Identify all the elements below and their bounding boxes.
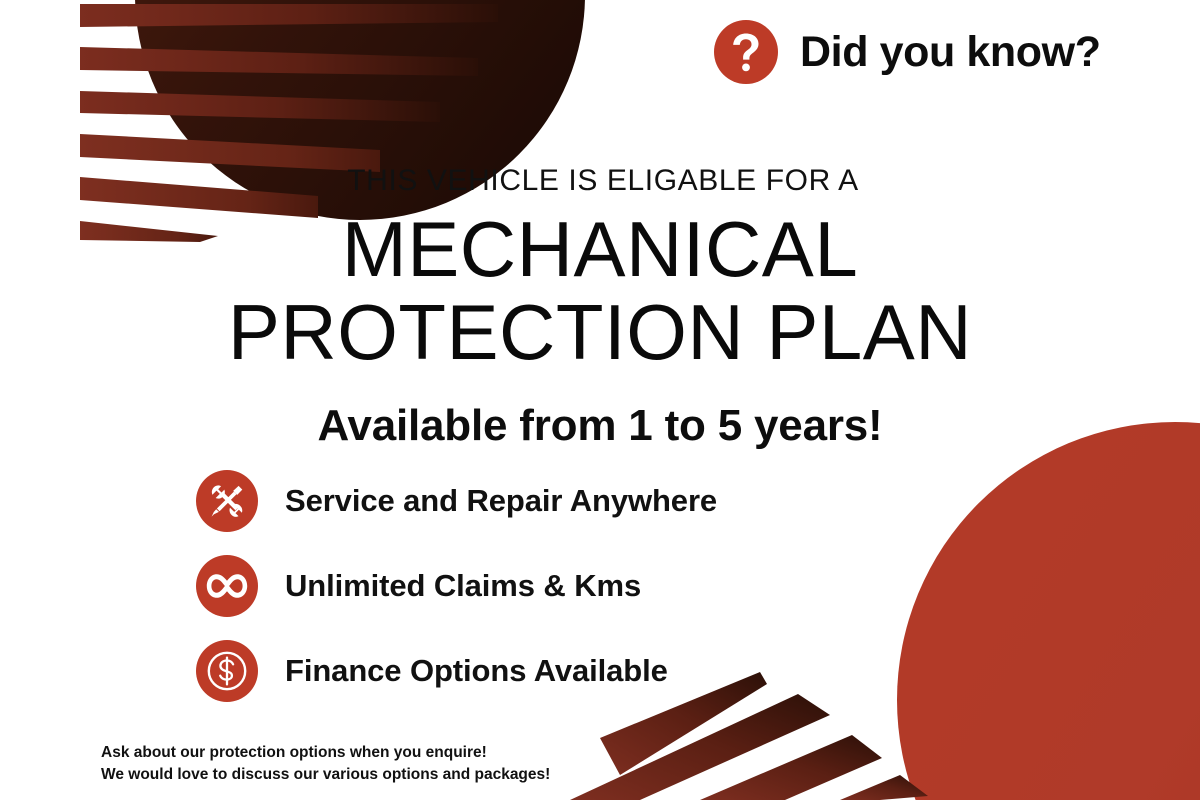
headline-line-2: PROTECTION PLAN [0, 291, 1200, 374]
headline-line-1: MECHANICAL [0, 208, 1200, 291]
feature-list: Service and Repair Anywhere Unlimited Cl… [196, 470, 717, 702]
did-you-know-banner: Did you know? [714, 20, 1101, 84]
feature-item-finance-options: Finance Options Available [196, 640, 717, 702]
headline-block: THIS VEHICLE IS ELIGABLE FOR A MECHANICA… [0, 166, 1200, 451]
question-mark-icon [714, 20, 778, 84]
wrench-screwdriver-icon [196, 470, 258, 532]
bottom-right-circle [897, 422, 1200, 800]
dollar-coin-icon [196, 640, 258, 702]
feature-item-unlimited-claims: Unlimited Claims & Kms [196, 555, 717, 617]
headline-subtitle: Available from 1 to 5 years! [0, 401, 1200, 451]
footer-line-2: We would love to discuss our various opt… [101, 764, 550, 786]
poster-canvas: Did you know? THIS VEHICLE IS ELIGABLE F… [0, 0, 1200, 800]
footer-note: Ask about our protection options when yo… [101, 742, 550, 786]
feature-label: Service and Repair Anywhere [285, 483, 717, 519]
did-you-know-label: Did you know? [800, 28, 1101, 77]
feature-item-service-repair: Service and Repair Anywhere [196, 470, 717, 532]
footer-line-1: Ask about our protection options when yo… [101, 742, 550, 764]
headline-eyebrow: THIS VEHICLE IS ELIGABLE FOR A [6, 166, 1200, 196]
infinity-icon [196, 555, 258, 617]
feature-label: Finance Options Available [285, 653, 668, 689]
feature-label: Unlimited Claims & Kms [285, 568, 641, 604]
